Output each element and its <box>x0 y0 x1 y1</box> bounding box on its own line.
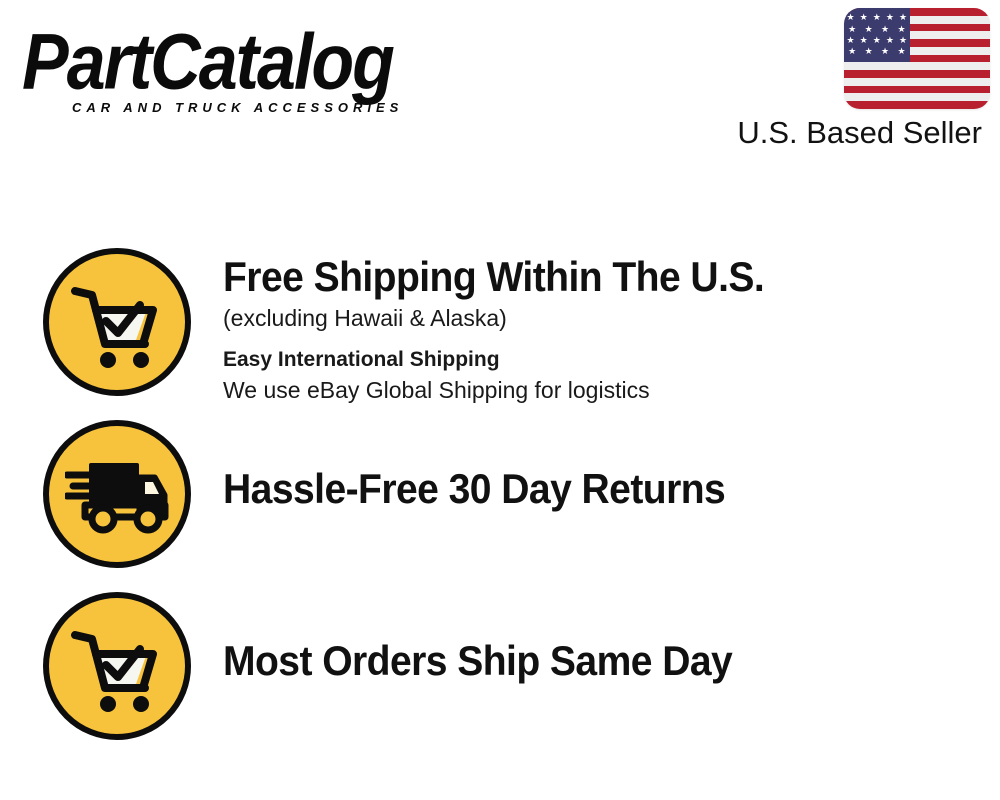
feature-row: Hassle-Free 30 Day Returns <box>0 420 1000 568</box>
flag-stripe <box>844 78 990 86</box>
feature-row: Most Orders Ship Same Day <box>0 592 1000 740</box>
flag-canton: ★★★★★ ★★★★ ★★★★★ ★★★★ <box>844 8 910 62</box>
feature-row: Free Shipping Within The U.S. (excluding… <box>0 248 1000 406</box>
feature-text-block: Most Orders Ship Same Day <box>223 592 1000 686</box>
feature-title: Free Shipping Within The U.S. <box>223 252 946 302</box>
shopping-cart-check-icon <box>43 592 191 740</box>
feature-subtext: We use eBay Global Shipping for logistic… <box>223 374 1000 406</box>
brand-wordmark: PartCatalog <box>22 20 542 103</box>
feature-title: Hassle-Free 30 Day Returns <box>223 464 946 514</box>
shipping-info-banner: PartCatalog CAR AND TRUCK ACCESSORIES <box>0 0 1000 800</box>
flag-stripe <box>844 62 990 70</box>
flag-star-row: ★★★★ <box>844 47 910 56</box>
flag-star-row: ★★★★ <box>844 25 910 34</box>
flag-star-row: ★★★★★ <box>844 13 910 22</box>
feature-subtitle: Easy International Shipping <box>223 346 1000 374</box>
us-based-seller-badge: ★★★★★ ★★★★ ★★★★★ ★★★★ U.S. Based Seller <box>700 8 990 151</box>
us-flag-icon: ★★★★★ ★★★★ ★★★★★ ★★★★ <box>844 8 990 109</box>
feature-note: (excluding Hawaii & Alaska) <box>223 302 1000 334</box>
feature-title: Most Orders Ship Same Day <box>223 636 946 686</box>
feature-text-block: Hassle-Free 30 Day Returns <box>223 420 1000 514</box>
flag-stripe <box>844 86 990 94</box>
flag-stripe <box>844 93 990 101</box>
flag-stripe <box>844 70 990 78</box>
us-based-seller-label: U.S. Based Seller <box>700 115 990 151</box>
feature-text-block: Free Shipping Within The U.S. (excluding… <box>223 248 1000 406</box>
flag-stripe <box>844 101 990 109</box>
brand-logo: PartCatalog CAR AND TRUCK ACCESSORIES <box>22 20 542 130</box>
shopping-cart-check-icon <box>43 248 191 396</box>
flag-star-row: ★★★★★ <box>844 36 910 45</box>
delivery-truck-icon <box>43 420 191 568</box>
